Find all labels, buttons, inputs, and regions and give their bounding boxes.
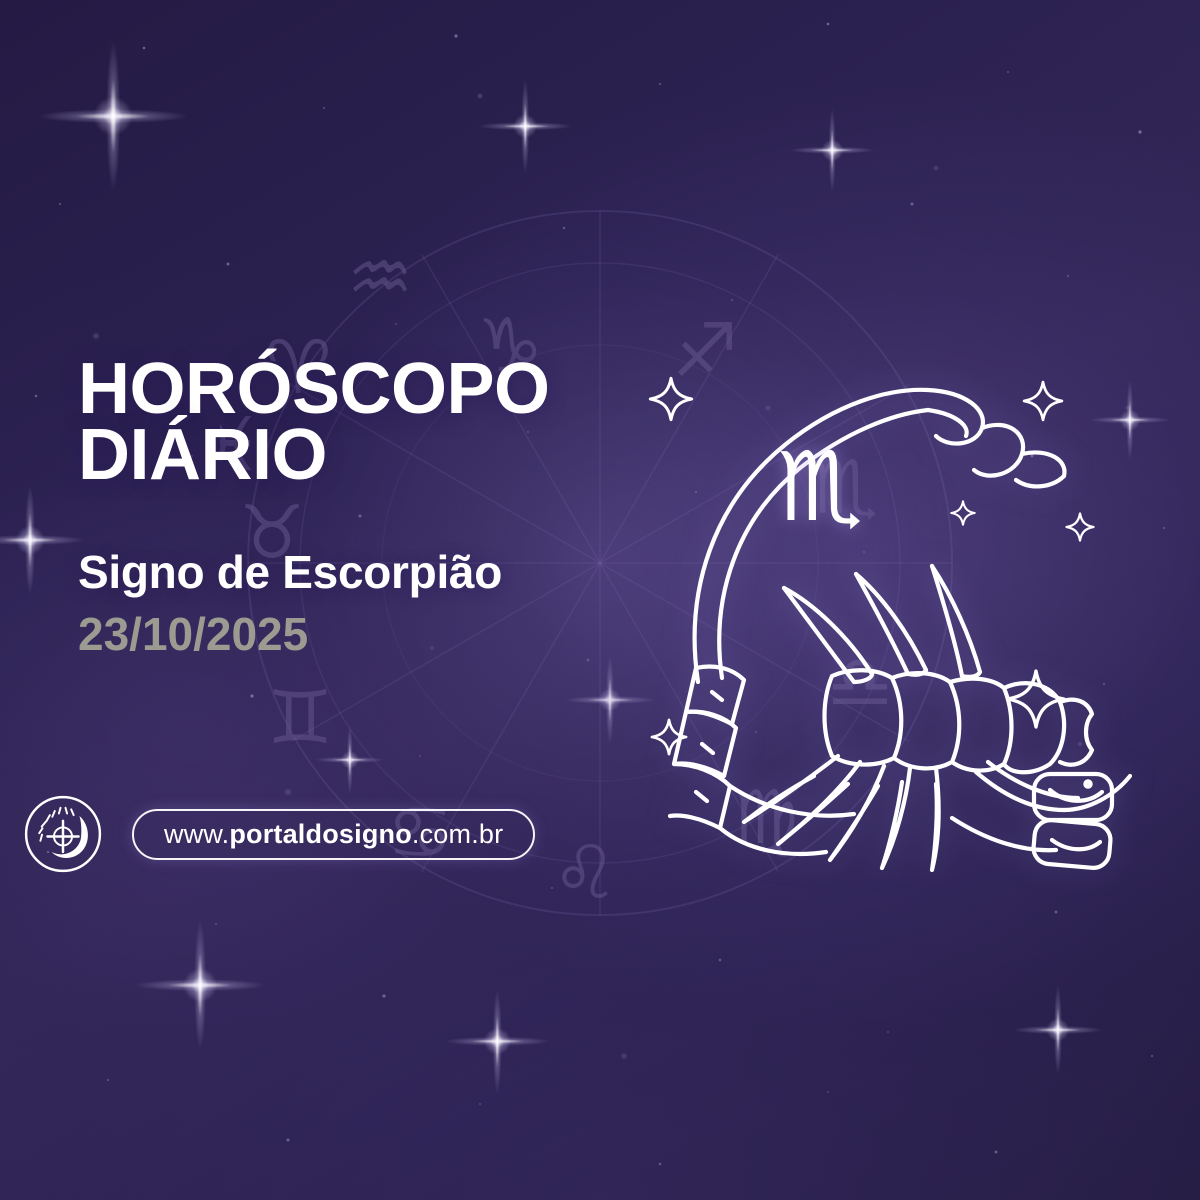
glow-sparkle (135, 920, 265, 1050)
page-title-line2: DIÁRIO (78, 422, 658, 488)
star-sparkle-outline (1065, 512, 1095, 542)
glow-sparkle (1013, 985, 1103, 1075)
glow-sparkle (565, 655, 655, 745)
glow-sparkle (445, 989, 550, 1094)
horoscope-social-card: ♑ ♐ ♏ ♎ ♍ ♌ ♋ ♊ ♉ ♈ ♓ ♒ (0, 0, 1200, 1200)
website-url-pill[interactable]: www.portaldosigno.com.br (132, 809, 535, 860)
url-brand: portaldosigno (229, 819, 412, 849)
scorpion-line-art (636, 352, 1136, 872)
page-title: HORÓSCOPO DIÁRIO (78, 356, 658, 488)
glow-sparkle (1090, 380, 1170, 460)
glow-sparkle (478, 79, 573, 174)
wheel-glyph-gemini: ♊ (267, 675, 333, 761)
glow-sparkle (315, 725, 385, 795)
glow-sparkle (38, 41, 188, 191)
wheel-glyph-libra: ♎ (827, 640, 893, 726)
footer: www.portaldosigno.com.br (22, 793, 535, 875)
glow-sparkle (790, 108, 875, 193)
website-url-text: www.portaldosigno.com.br (164, 819, 503, 850)
text-block: HORÓSCOPO DIÁRIO Signo de Escorpião 23/1… (78, 356, 658, 661)
url-prefix: www. (164, 819, 229, 849)
date-label: 23/10/2025 (78, 607, 658, 661)
wheel-glyph-virgo: ♍ (732, 775, 798, 861)
url-suffix: .com.br (412, 819, 503, 849)
sign-subtitle: Signo de Escorpião (78, 545, 658, 599)
moon-and-stars-logo-icon[interactable] (22, 793, 104, 875)
star-sparkle-outline (650, 718, 688, 756)
star-sparkle-outline (950, 500, 976, 526)
wheel-glyph-aquarius: ♒ (347, 235, 413, 321)
star-sparkle-outline (1005, 668, 1067, 730)
glow-sparkle (0, 485, 85, 595)
wheel-glyph-leo: ♌ (552, 830, 618, 916)
star-sparkle-outline (1022, 380, 1064, 422)
scorpio-glyph-main: ♏ (777, 439, 863, 535)
